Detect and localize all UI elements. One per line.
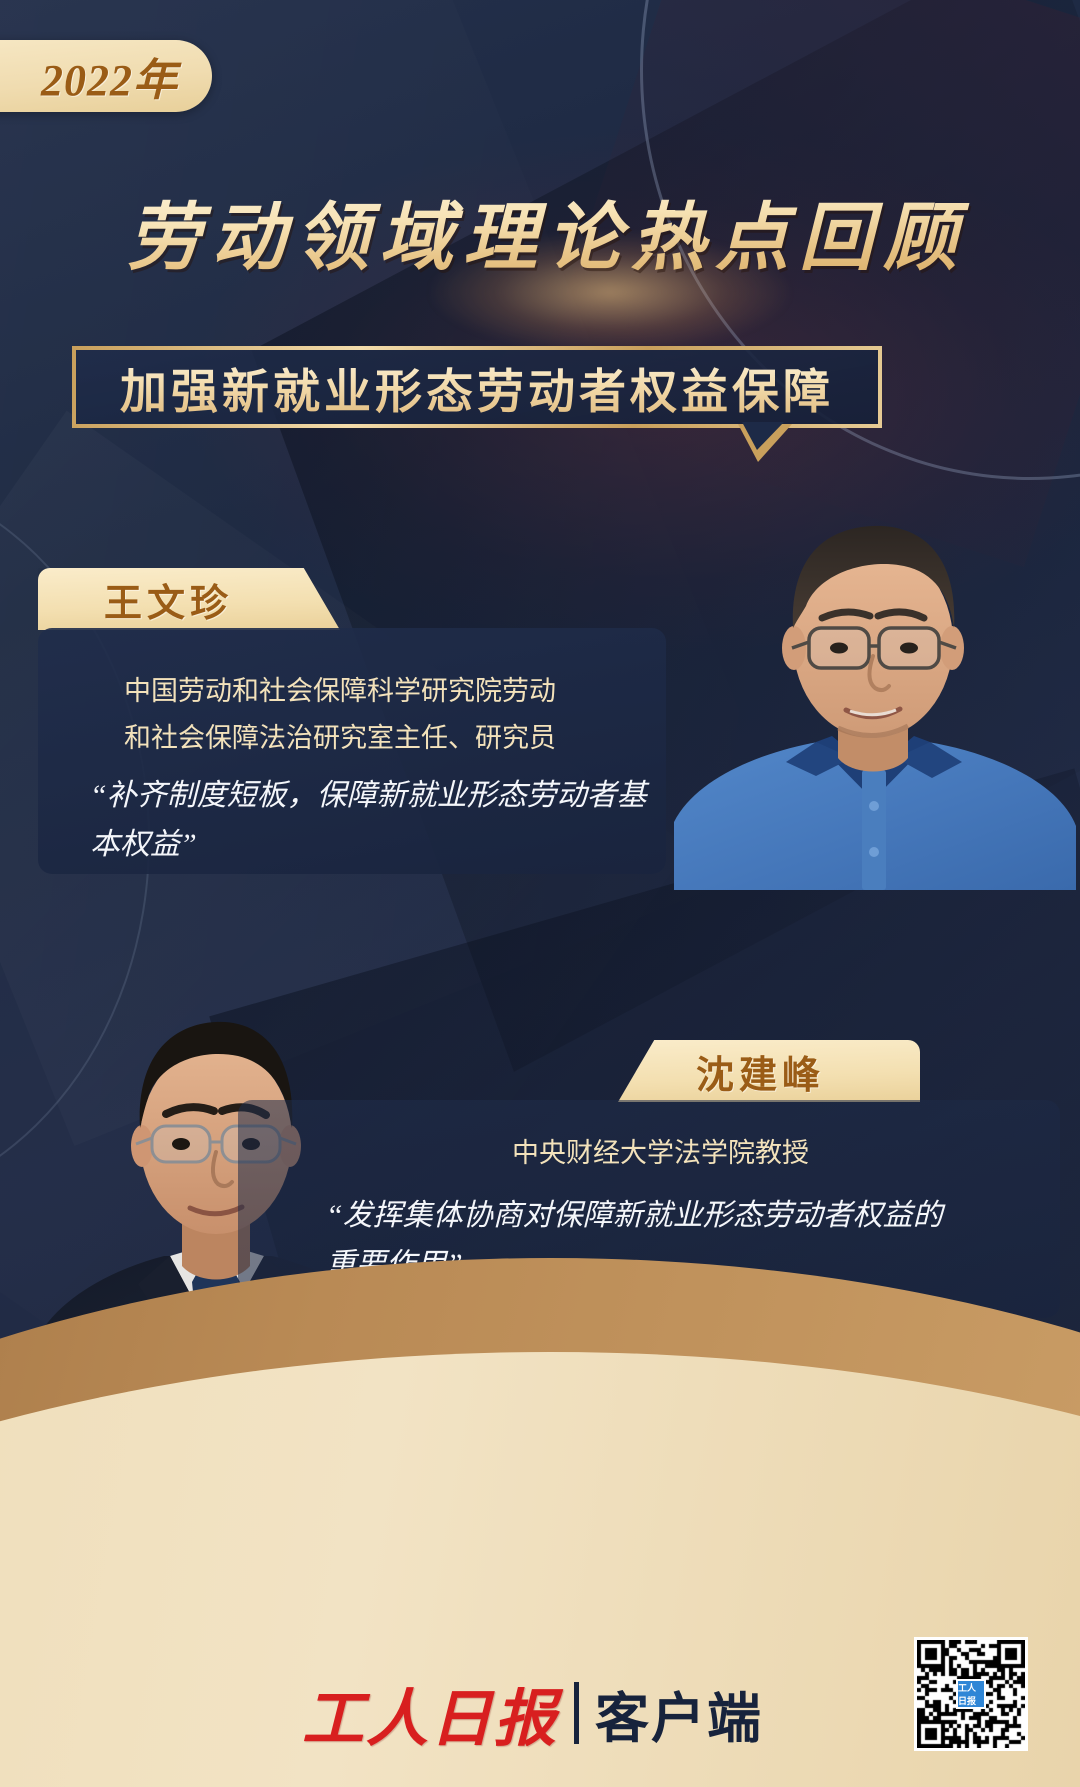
brand-divider (574, 1682, 579, 1744)
subtitle-banner-tail-inner (742, 422, 784, 450)
expert-2-affiliation-line1: 中央财经大学法学院教授 (512, 1130, 809, 1177)
year-badge: 2022年 (0, 40, 212, 112)
page-title: 劳动领域理论热点回顾 (0, 178, 1080, 285)
expert-1-affiliation-line1: 中国劳动和社会保障科学研究院劳动 (124, 668, 556, 715)
expert-1-affiliation-line2: 和社会保障法治研究室主任、研究员 (124, 715, 556, 762)
expert-1-name-tag: 王文珍 (38, 568, 340, 630)
expert-1-name: 王文珍 (104, 572, 233, 627)
year-badge-label: 2022年 (41, 44, 178, 108)
brand-app-label: 客户端 (595, 1674, 763, 1753)
expert-1-affiliation: 中国劳动和社会保障科学研究院劳动 和社会保障法治研究室主任、研究员 (124, 668, 556, 763)
footer-brand: 工人日报 客户端 (302, 1668, 763, 1758)
qr-code[interactable]: 工人日报 (914, 1637, 1028, 1751)
subtitle-banner: 加强新就业形态劳动者权益保障 (72, 346, 882, 428)
expert-1-portrait (666, 470, 1080, 890)
brand-name: 工人日报 (302, 1668, 558, 1758)
qr-center-logo: 工人日报 (956, 1679, 986, 1709)
expert-1-quote: “补齐制度短板，保障新就业形态劳动者基本权益” (90, 772, 670, 869)
expert-2-affiliation: 中央财经大学法学院教授 (512, 1130, 809, 1177)
expert-2-name-tag: 沈建峰 (618, 1040, 920, 1102)
expert-2-name: 沈建峰 (696, 1044, 825, 1099)
poster-root: 2022年 劳动领域理论热点回顾 加强新就业形态劳动者权益保障 (0, 0, 1080, 1787)
subtitle-banner-label: 加强新就业形态劳动者权益保障 (120, 353, 834, 422)
